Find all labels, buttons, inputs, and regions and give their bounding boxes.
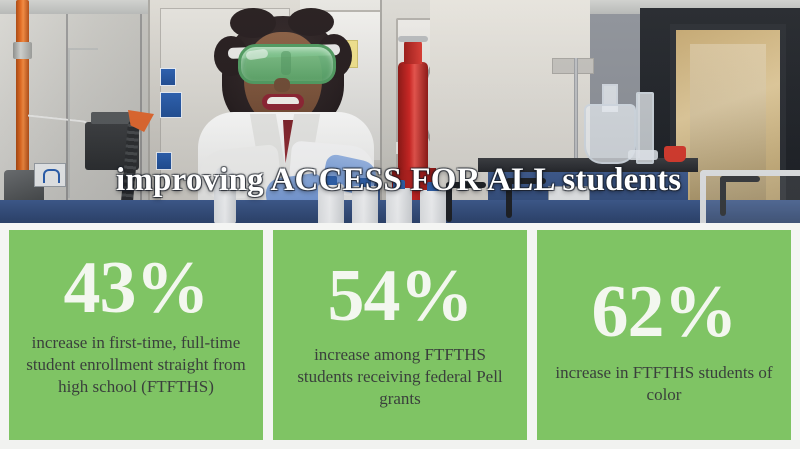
wall-sign-plate (34, 163, 66, 187)
red-cap (664, 146, 686, 162)
stat-description: increase among FTFTHS students receiving… (273, 344, 527, 410)
hair-tuft (288, 8, 334, 36)
stat-card-2: 54% increase among FTFTHS students recei… (273, 230, 527, 440)
hero-banner: improving ACCESS FOR ALL students (0, 0, 800, 223)
stat-card-1: 43% increase in first-time, full-time st… (9, 230, 263, 440)
photo-card-divider (0, 223, 800, 230)
wall-vent (552, 58, 594, 74)
hero-headline: improving ACCESS FOR ALL students (116, 162, 716, 198)
stat-description: increase in first-time, full-time studen… (9, 332, 263, 398)
pipe-collar (13, 42, 32, 59)
infographic-page: improving ACCESS FOR ALL students 43% in… (0, 0, 800, 449)
bottom-strip (0, 440, 800, 449)
support-rod (574, 58, 578, 168)
stat-value: 43% (64, 248, 209, 328)
wall-conduit (68, 48, 70, 198)
stat-value: 62% (592, 272, 737, 352)
stat-value: 54% (328, 256, 473, 336)
smile (262, 94, 304, 110)
stat-description: increase in FTFTHS students of color (537, 362, 791, 406)
stat-card-3: 62% increase in FTFTHS students of color (537, 230, 791, 440)
wall-conduit-elbow (68, 48, 98, 50)
cylinder-base (628, 150, 658, 160)
nose (274, 78, 290, 92)
stat-cards: 43% increase in first-time, full-time st… (9, 230, 791, 440)
